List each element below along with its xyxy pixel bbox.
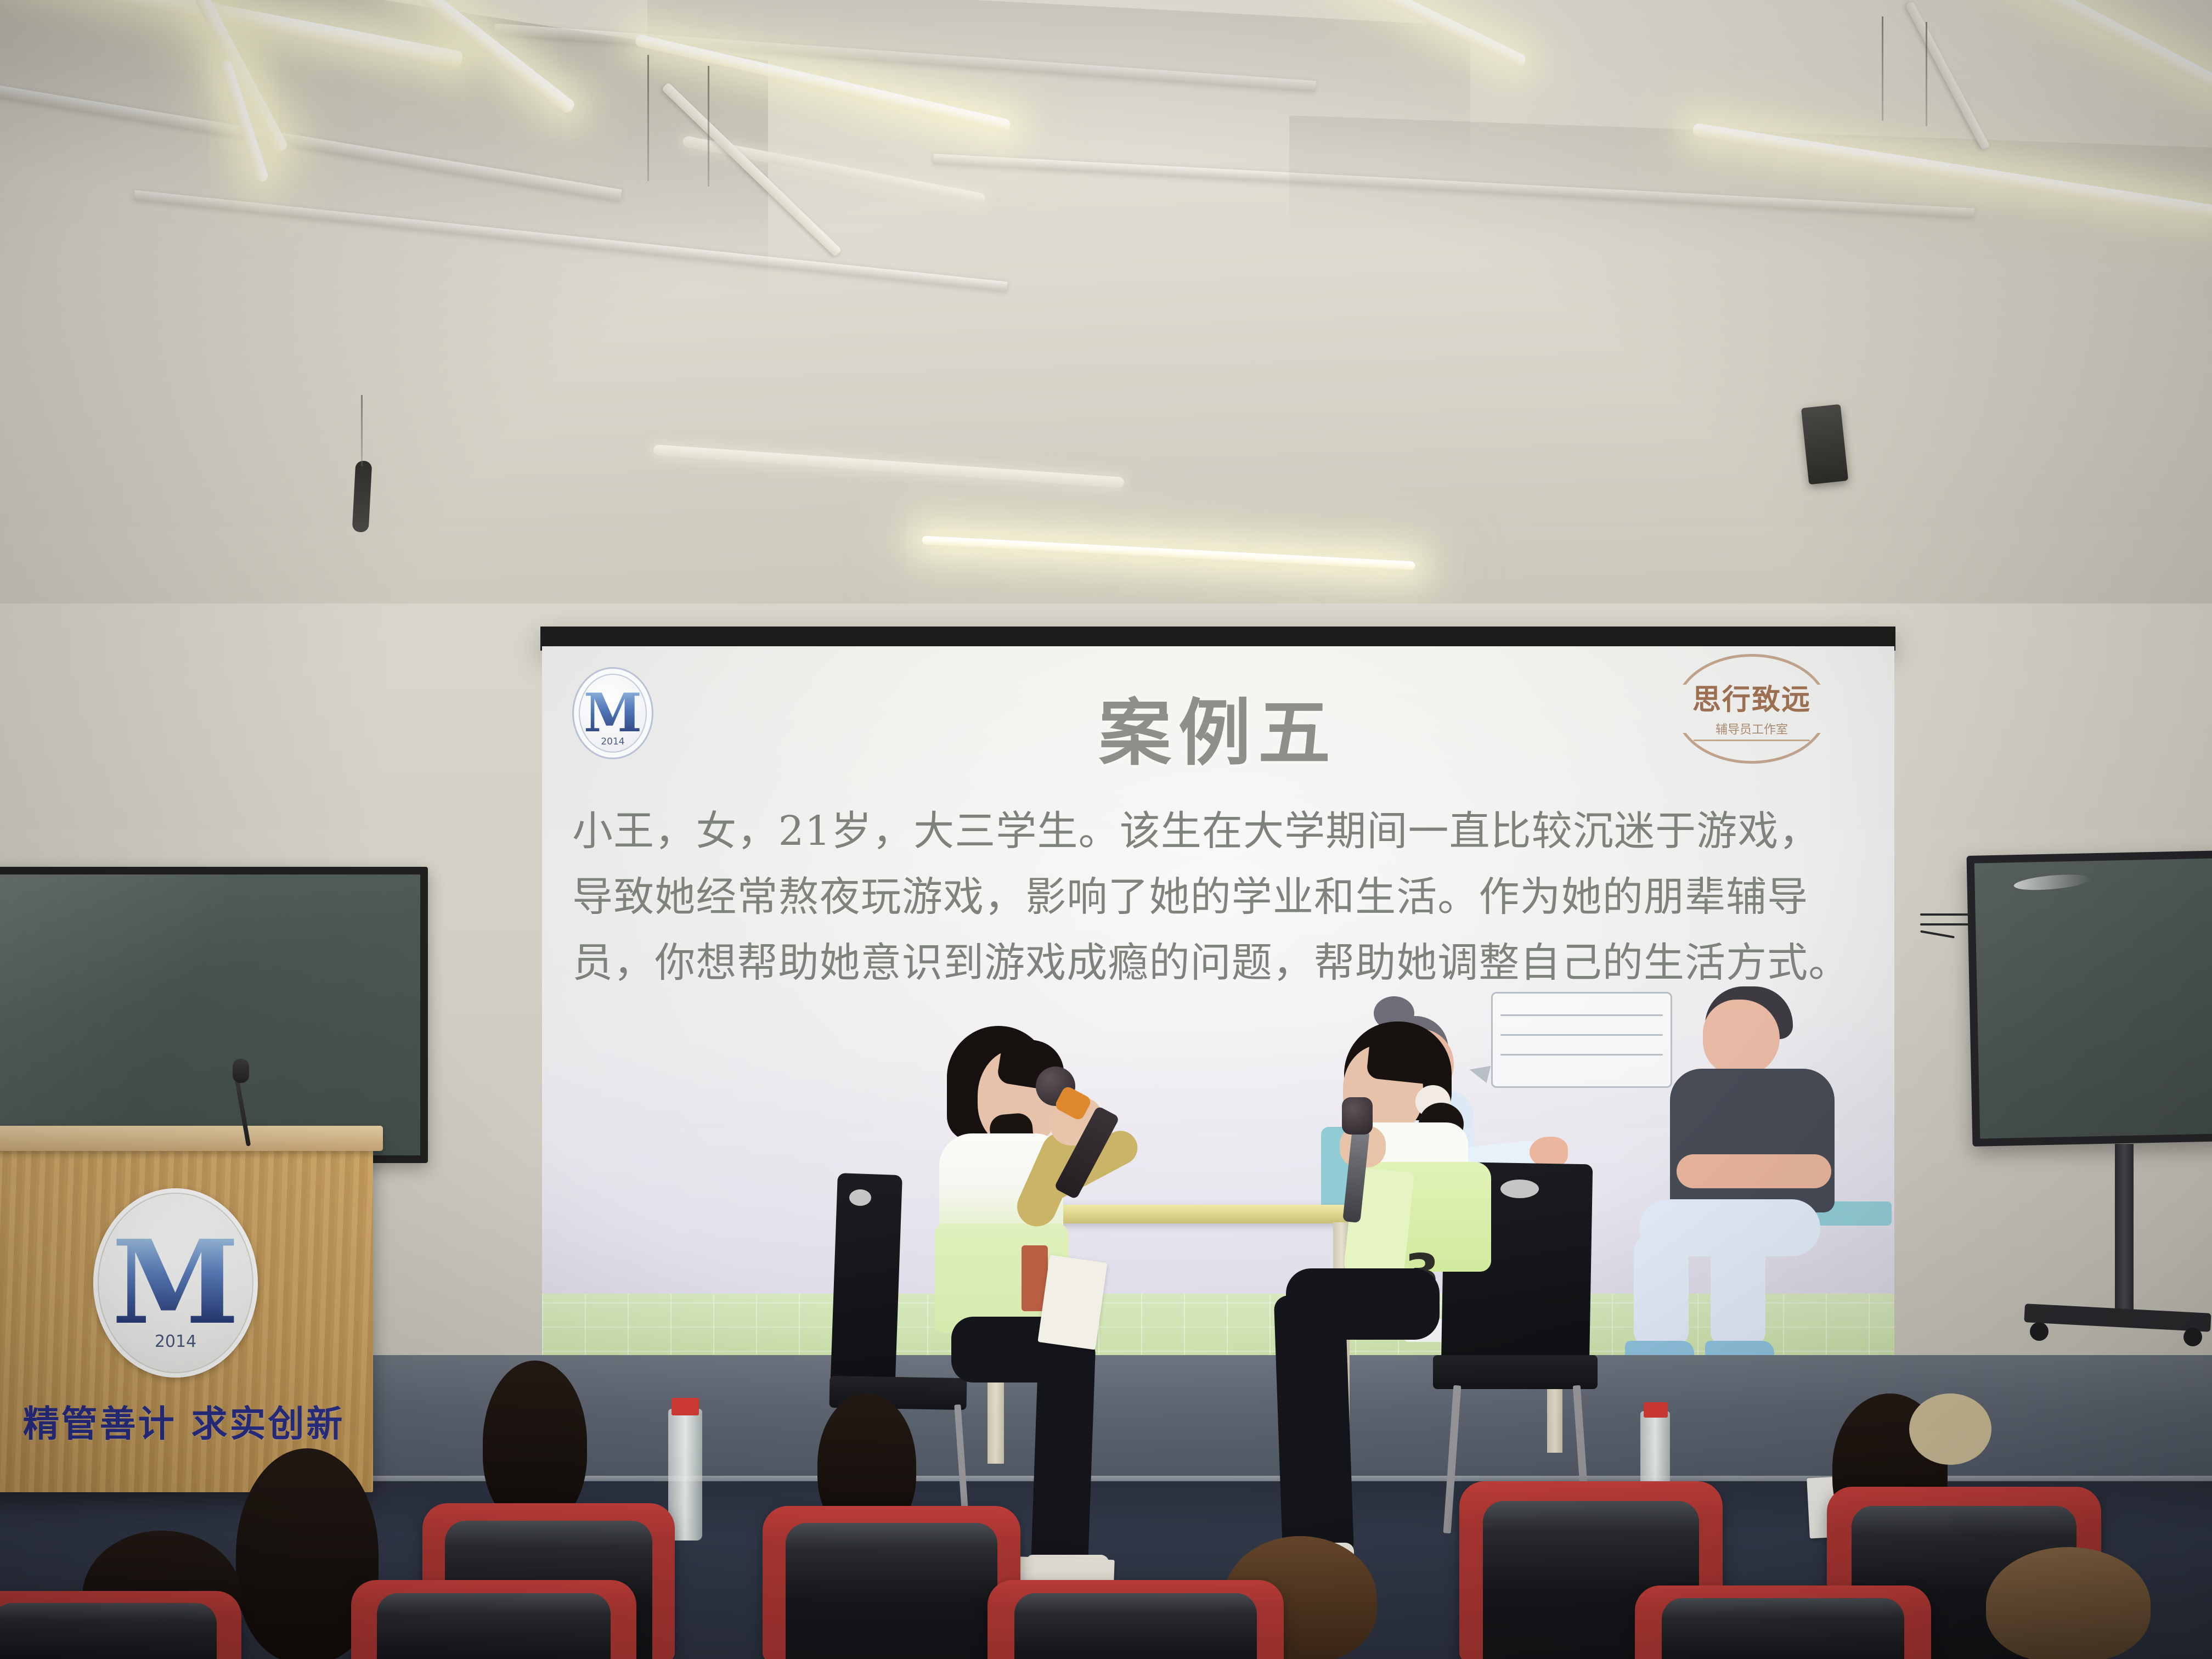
presenter-leg-lower <box>1031 1338 1096 1575</box>
ceiling-light-tube <box>653 444 1124 488</box>
light-hanger <box>1926 22 1927 126</box>
illustration-student <box>1650 986 1881 1370</box>
podium-seal-icon: M 2014 <box>93 1188 258 1378</box>
slide-body-line: 小王，女，21岁，大三学生。该生在大学期间一直比较沉迷于游戏， <box>572 799 1867 865</box>
display-stand-caster <box>2030 1322 2049 1341</box>
podium-seal-monogram: M <box>112 1233 239 1333</box>
illustration-legs-lower <box>1634 1233 1689 1350</box>
whiteboard-marker-tray-icon <box>1920 913 1970 943</box>
slide-title: 案例五 <box>542 675 1894 780</box>
slide-body: 小王，女，21岁，大三学生。该生在大学期间一直比较沉迷于游戏， 导致她经常熬夜玩… <box>572 799 1867 996</box>
illustration-torso <box>1670 1069 1835 1212</box>
presenter-leg-lower <box>1274 1294 1355 1559</box>
presenter-left <box>927 1026 1212 1481</box>
wall-display-monitor[interactable] <box>1967 850 2212 1147</box>
microphone-cable <box>361 395 363 466</box>
light-hanger <box>1882 16 1883 121</box>
display-panel <box>1974 858 2212 1138</box>
chalkboard <box>0 867 428 1163</box>
podium-seal-year: 2014 <box>93 1332 258 1351</box>
illustration-head <box>1703 1000 1780 1076</box>
audience-seat <box>988 1580 1284 1659</box>
audience-seat <box>351 1580 636 1659</box>
display-stand-pole <box>2115 1144 2134 1325</box>
presenter-right: 3 <box>1311 1020 1596 1476</box>
display-stand-caster <box>2183 1328 2202 1346</box>
microphone-head-right <box>1342 1097 1373 1135</box>
illustration-legs-lower <box>1711 1233 1765 1350</box>
audience-head <box>483 1361 587 1525</box>
audience-seat <box>0 1591 241 1659</box>
lecture-hall-photo: M 2014 思行致远 辅导员工作室 案例五 小王，女，21岁，大三学生。该生在… <box>0 0 2212 1659</box>
water-bottle-cap <box>1644 1402 1668 1418</box>
presenter-paper <box>1037 1255 1107 1350</box>
podium-slogan: 精管善计 求实创新 <box>0 1395 373 1447</box>
ceiling-speaker <box>1801 404 1848 485</box>
audience-head <box>1986 1547 2151 1659</box>
ceiling <box>0 0 2212 647</box>
water-bottle-cap <box>672 1398 699 1415</box>
podium-microphone-head <box>233 1059 249 1083</box>
podium: M 2014 精管善计 求实创新 <box>0 1141 373 1492</box>
projection-screen: M 2014 思行致远 辅导员工作室 案例五 小王，女，21岁，大三学生。该生在… <box>542 646 1894 1376</box>
audience-seat <box>763 1506 1020 1659</box>
illustration-crossed-arms <box>1677 1154 1831 1188</box>
light-housing <box>1905 1 1990 150</box>
slide-body-line: 导致她经常熬夜玩游戏，影响了她的学业和生活。作为她的朋辈辅导 <box>572 865 1867 930</box>
audience-seat <box>1635 1585 1931 1659</box>
hanging-microphone <box>352 460 373 532</box>
display-glare <box>2013 872 2091 893</box>
audience-hair-bun <box>1909 1393 1991 1465</box>
podium-top <box>0 1126 383 1151</box>
light-hanger <box>708 66 709 187</box>
light-hanger <box>647 55 649 181</box>
ceiling-light-tube <box>922 535 1415 570</box>
